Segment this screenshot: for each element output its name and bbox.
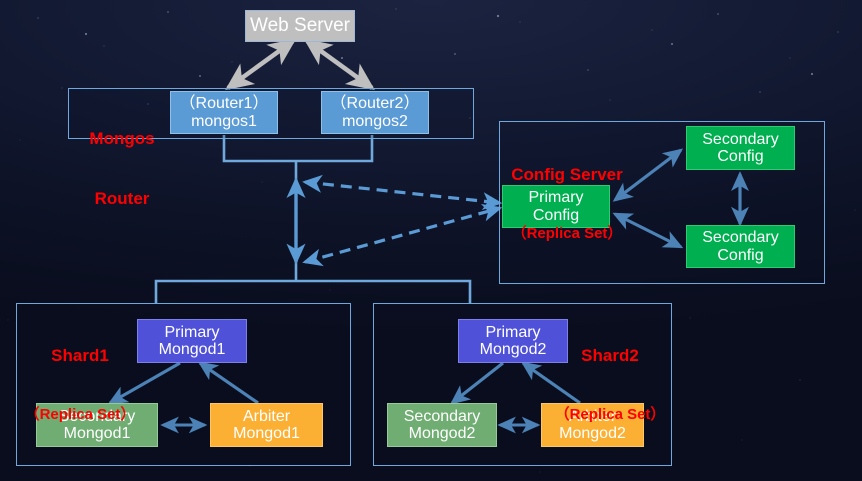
- node-router1[interactable]: （Router1） mongos1: [170, 91, 278, 134]
- node-shard1-primary-line1: Primary: [164, 324, 219, 341]
- node-secondary-config-top-line2: Config: [717, 148, 763, 165]
- caption-shard1-line2: （Replica Set）: [20, 406, 140, 424]
- node-shard1-arbiter[interactable]: Arbiter Mongod1: [210, 403, 323, 447]
- node-secondary-config-bottom[interactable]: Secondary Config: [686, 225, 795, 268]
- node-web-server[interactable]: Web Server: [245, 10, 355, 42]
- caption-mongos-line1: Mongos: [72, 129, 172, 150]
- arrow-trunk-to-config-lower: [305, 208, 500, 262]
- node-router2-line2: mongos2: [342, 113, 408, 130]
- node-shard2-secondary-line1: Secondary: [404, 408, 481, 425]
- node-shard1-primary[interactable]: Primary Mongod1: [137, 319, 247, 363]
- node-secondary-config-top-line1: Secondary: [702, 131, 779, 148]
- node-secondary-config-bottom-line2: Config: [717, 247, 763, 264]
- caption-config-line2: （Replica Set）: [497, 225, 637, 243]
- node-web-server-label: Web Server: [250, 16, 350, 37]
- caption-config-line1: Config Server: [497, 165, 637, 186]
- caption-shard1-line1: Shard1: [20, 346, 140, 367]
- arrow-webserver-to-router2: [307, 41, 372, 88]
- shard-bus: [156, 281, 470, 303]
- node-shard1-primary-line2: Mongod1: [159, 341, 226, 358]
- node-secondary-config-top[interactable]: Secondary Config: [686, 126, 795, 170]
- node-shard2-secondary[interactable]: Secondary Mongod2: [387, 403, 497, 447]
- node-shard2-primary-line1: Primary: [485, 324, 540, 341]
- node-router1-line2: mongos1: [191, 113, 257, 130]
- caption-shard1: Shard1 （Replica Set）: [20, 307, 140, 463]
- caption-shard2-line2: （Replica Set）: [548, 406, 672, 424]
- node-shard1-arbiter-line1: Arbiter: [243, 408, 290, 425]
- node-secondary-config-bottom-line1: Secondary: [702, 229, 779, 246]
- node-shard1-arbiter-line2: Mongod1: [233, 425, 300, 442]
- node-shard2-secondary-line2: Mongod2: [409, 425, 476, 442]
- caption-mongos-router: Mongos Router: [72, 90, 172, 249]
- router-bus: [224, 135, 372, 282]
- node-router2-line1: （Router2）: [331, 95, 420, 112]
- caption-shard2: Shard2 （Replica Set）: [548, 307, 672, 463]
- arrow-trunk-to-config-upper: [305, 182, 500, 203]
- diagram-canvas: Mongos Router Config Server （Replica Set…: [0, 0, 862, 481]
- caption-shard2-line1: Shard2: [548, 346, 672, 367]
- node-shard2-primary-line2: Mongod2: [480, 341, 547, 358]
- node-router2[interactable]: （Router2） mongos2: [321, 91, 429, 134]
- caption-mongos-line2: Router: [72, 189, 172, 210]
- arrow-webserver-to-router1: [228, 41, 293, 88]
- node-router1-line1: （Router1）: [180, 95, 269, 112]
- caption-config-server: Config Server （Replica Set）: [497, 126, 637, 282]
